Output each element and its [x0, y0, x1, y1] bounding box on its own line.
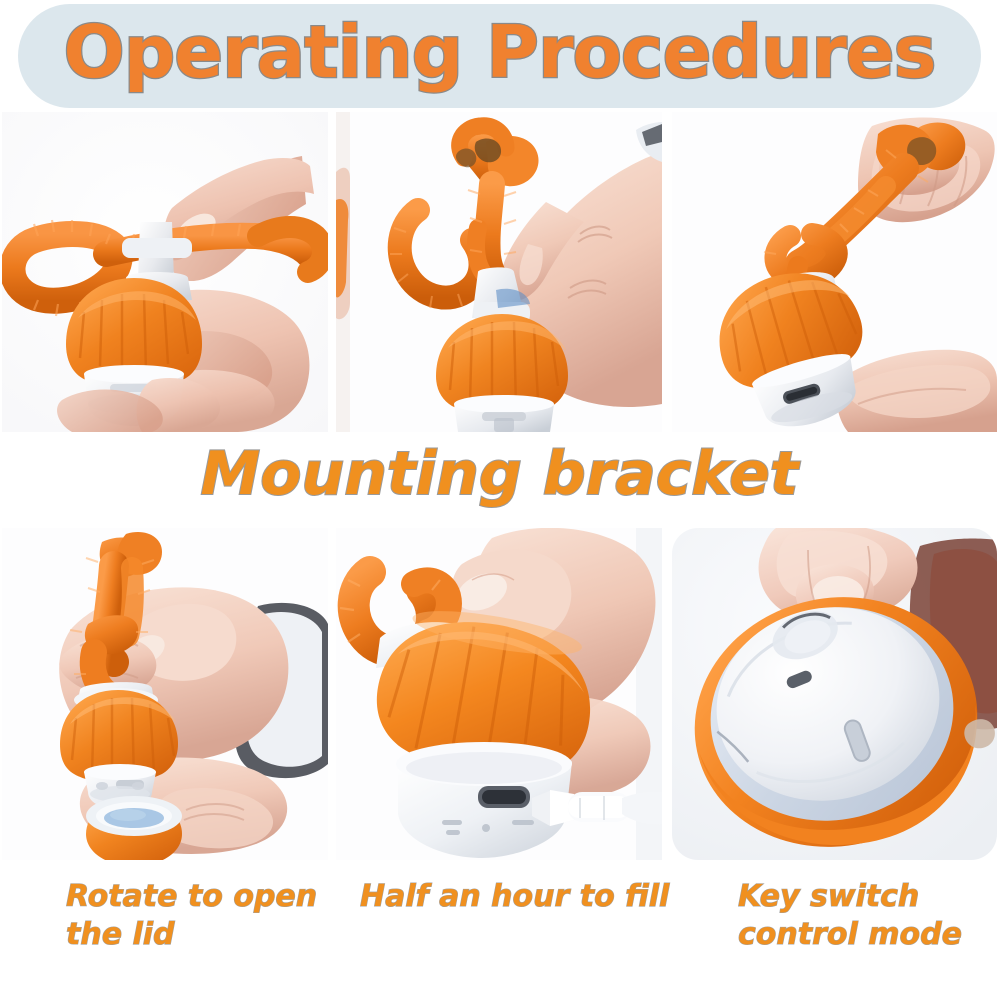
- photo-hand-holding-device: [2, 112, 328, 432]
- panel-top-middle: [336, 112, 662, 432]
- photo-key-switch-control-mode: [672, 528, 997, 860]
- caption-rotate-to-open-lid: Rotate to open the lid: [66, 878, 366, 954]
- panel-bottom-left: [2, 528, 328, 860]
- mounting-bracket-label: Mounting bracket: [0, 438, 999, 510]
- caption-key-switch-control-mode: Key switch control mode: [738, 878, 988, 954]
- panel-bottom-middle: [336, 528, 662, 860]
- photo-row-top: [0, 112, 999, 432]
- photo-charging-usb-cable: [336, 528, 662, 860]
- panel-top-right: [672, 112, 997, 432]
- page-title: Operating Procedures: [0, 2, 999, 102]
- panel-top-left: [2, 112, 328, 432]
- photo-tying-rope-knot: [336, 112, 662, 432]
- photo-row-bottom: [0, 528, 999, 860]
- panel-bottom-right: [672, 528, 997, 860]
- caption-half-an-hour-to-fill: Half an hour to fill: [360, 878, 680, 916]
- photo-rotate-open-lid: [2, 528, 328, 860]
- photo-device-hanging-from-rope: [672, 112, 997, 432]
